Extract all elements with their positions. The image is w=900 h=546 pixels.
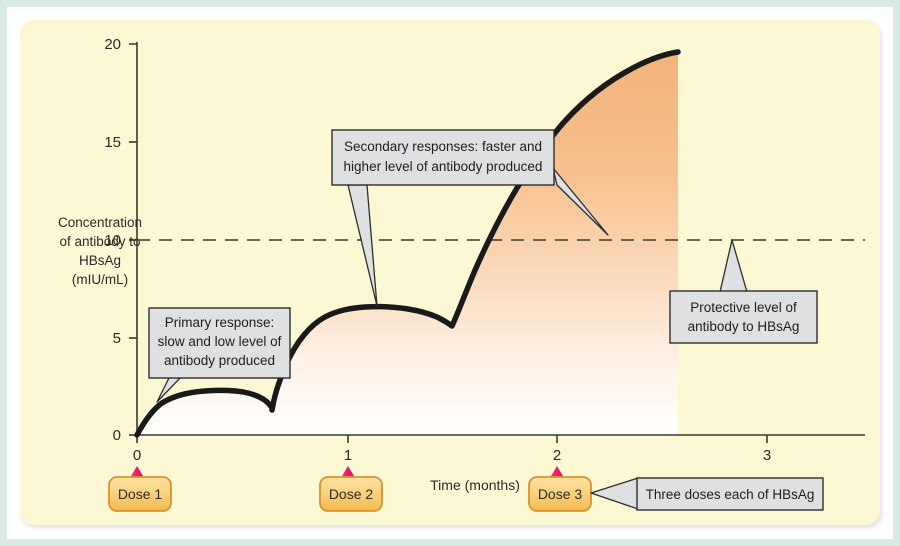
x-tick-label-3: 3 (763, 447, 771, 464)
y-tick-label-15: 15 (104, 134, 121, 151)
dose-2-label: Dose 2 (329, 486, 374, 502)
x-axis-ticks (137, 435, 767, 443)
dose-3-label: Dose 3 (538, 486, 583, 502)
dose-marker-2[interactable]: Dose 2 (320, 466, 382, 511)
frame-band-left (0, 0, 7, 546)
callout-protective-box (670, 291, 817, 343)
callout-three-doses-line-1: Three doses each of HBsAg (646, 487, 815, 502)
y-tick-label-20: 20 (104, 36, 121, 53)
callout-secondary-line-1: Secondary responses: faster and (344, 139, 542, 154)
callout-protective-pointer (720, 240, 747, 292)
callout-secondary-line-2: higher level of antibody produced (344, 159, 543, 174)
frame-band-bottom (0, 539, 900, 546)
callout-primary-line-1: Primary response: (165, 315, 275, 330)
y-tick-label-5: 5 (113, 330, 121, 347)
y-axis-title-line-4: (mIU/mL) (72, 272, 128, 287)
x-tick-label-2: 2 (553, 447, 561, 464)
y-axis-title: Concentration of antibody to HBsAg (mIU/… (58, 215, 142, 287)
callout-protective-level: Protective level of antibody to HBsAg (670, 240, 817, 343)
y-axis-title-line-3: HBsAg (79, 253, 121, 268)
callout-secondary-pointer-left (348, 185, 377, 306)
figure-root: 0 5 10 15 20 0 1 2 3 Time (months) (0, 0, 900, 546)
x-tick-label-0: 0 (133, 447, 141, 464)
callout-three-doses: Three doses each of HBsAg (591, 478, 823, 510)
frame-band-top (0, 0, 900, 7)
dose-1-label: Dose 1 (118, 486, 163, 502)
x-axis-tick-labels: 0 1 2 3 (133, 447, 771, 464)
callout-protective-line-2: antibody to HBsAg (688, 319, 800, 334)
callout-primary-line-3: antibody produced (164, 353, 275, 368)
y-axis-title-line-2: of antibody to (59, 234, 140, 249)
antibody-response-chart: 0 5 10 15 20 0 1 2 3 Time (months) (20, 20, 880, 525)
y-axis-title-line-1: Concentration (58, 215, 142, 230)
x-axis-title: Time (months) (430, 477, 520, 493)
callout-protective-line-1: Protective level of (690, 300, 797, 315)
chart-panel: 0 5 10 15 20 0 1 2 3 Time (months) (20, 20, 880, 525)
frame-band-right (893, 0, 900, 546)
dose-marker-3[interactable]: Dose 3 (529, 466, 591, 511)
callout-primary-line-2: slow and low level of (158, 334, 282, 349)
x-tick-label-1: 1 (344, 447, 352, 464)
y-tick-label-0: 0 (113, 427, 121, 444)
dose-marker-1[interactable]: Dose 1 (109, 466, 171, 511)
callout-three-doses-pointer (591, 478, 638, 509)
